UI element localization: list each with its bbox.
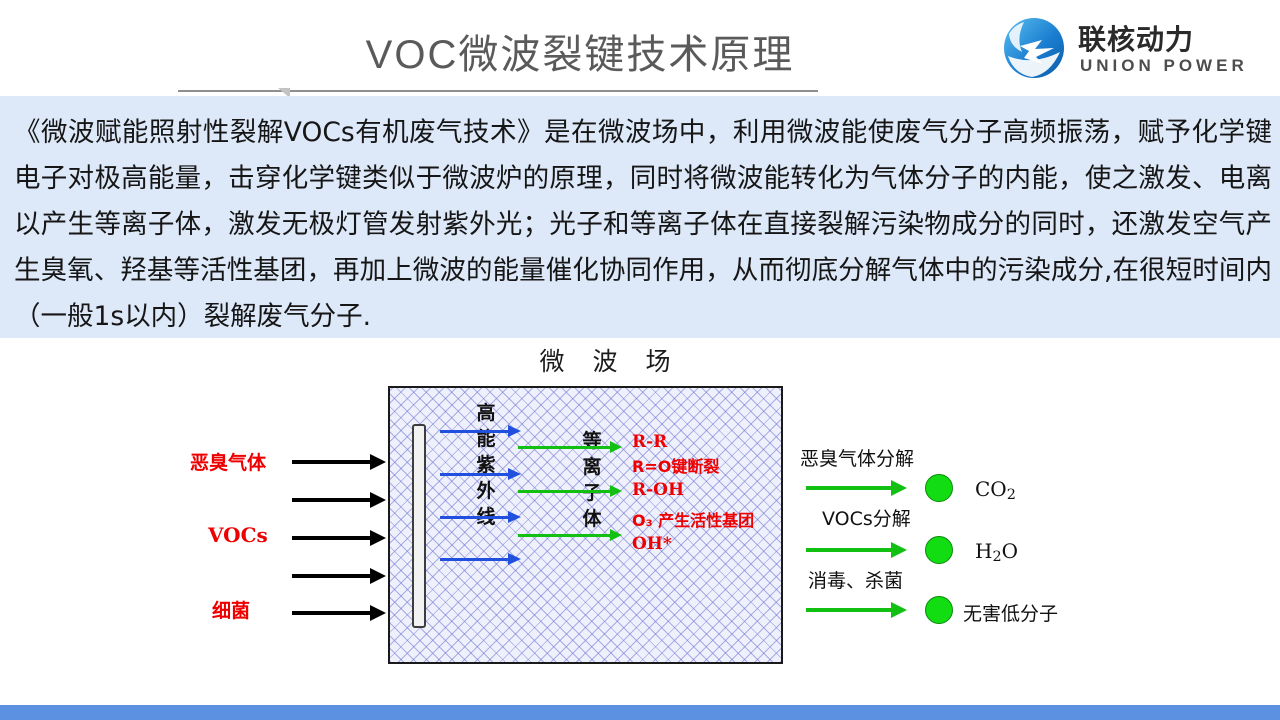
output-product-1: CO2 [975,477,1016,503]
reaction-label-4: O₃ 产生活性基团 [632,510,754,531]
plasma-char-2: 离 [580,454,604,480]
process-diagram: 微 波 场 恶臭气体 VOCs 细菌 高 能 紫 外 [0,338,1280,710]
globe-swoosh-icon [1002,16,1066,80]
logo-text-cn: 联核动力 [1078,18,1194,58]
output-product-2: H2O [975,539,1018,565]
description-text: 《微波赋能照射性裂解VOCs有机废气技术》是在微波场中，利用微波能使废气分子高频… [14,110,1272,340]
reaction-label-2: R=O键断裂 [632,456,719,477]
electrodeless-lamp-tube-icon [412,424,426,628]
output-process-3: 消毒、杀菌 [808,566,903,593]
output-product-2-main: H [975,539,992,563]
plasma-char-4: 体 [580,506,604,532]
output-product-3: 无害低分子 [963,599,1058,626]
output-dot-1 [925,474,953,502]
output-product-2-tail: O [1002,539,1018,563]
plasma-label-column: 等 离 子 体 [580,428,604,532]
output-product-1-sub: 2 [1007,487,1016,503]
page-title: VOC微波裂键技术原理 [240,22,920,80]
description-panel: 《微波赋能照射性裂解VOCs有机废气技术》是在微波场中，利用微波能使废气分子高频… [0,96,1280,376]
plasma-char-1: 等 [580,428,604,454]
title-underline [178,90,818,92]
reaction-label-5: OH* [632,534,672,555]
plasma-char-3: 子 [580,480,604,506]
uv-char-1: 高 [474,400,498,426]
output-process-1: 恶臭气体分解 [800,444,914,471]
footer-accent-bar [0,705,1280,720]
output-product-1-main: CO [975,477,1007,501]
input-label-bacteria: 细菌 [212,596,250,623]
output-dot-2 [925,536,953,564]
input-label-odor: 恶臭气体 [190,448,266,475]
microwave-field-title: 微 波 场 [480,342,740,378]
slide-header: VOC微波裂键技术原理 [0,0,1280,96]
output-process-2: VOCs分解 [822,504,911,531]
output-product-2-sub: 2 [992,549,1001,565]
uv-char-4: 外 [474,478,498,504]
company-logo: 联核动力 UNION POWER [1002,14,1268,86]
slide-canvas: VOC微波裂键技术原理 [0,0,1280,720]
reaction-label-1: R-R [632,432,667,453]
uv-label-column: 高 能 紫 外 线 [474,400,498,530]
input-label-vocs: VOCs [208,523,268,547]
output-dot-3 [925,596,953,624]
logo-text-en: UNION POWER [1080,56,1248,76]
reaction-label-3: R-OH [632,480,684,501]
microwave-chamber: 高 能 紫 外 线 等 离 子 体 [388,386,783,664]
